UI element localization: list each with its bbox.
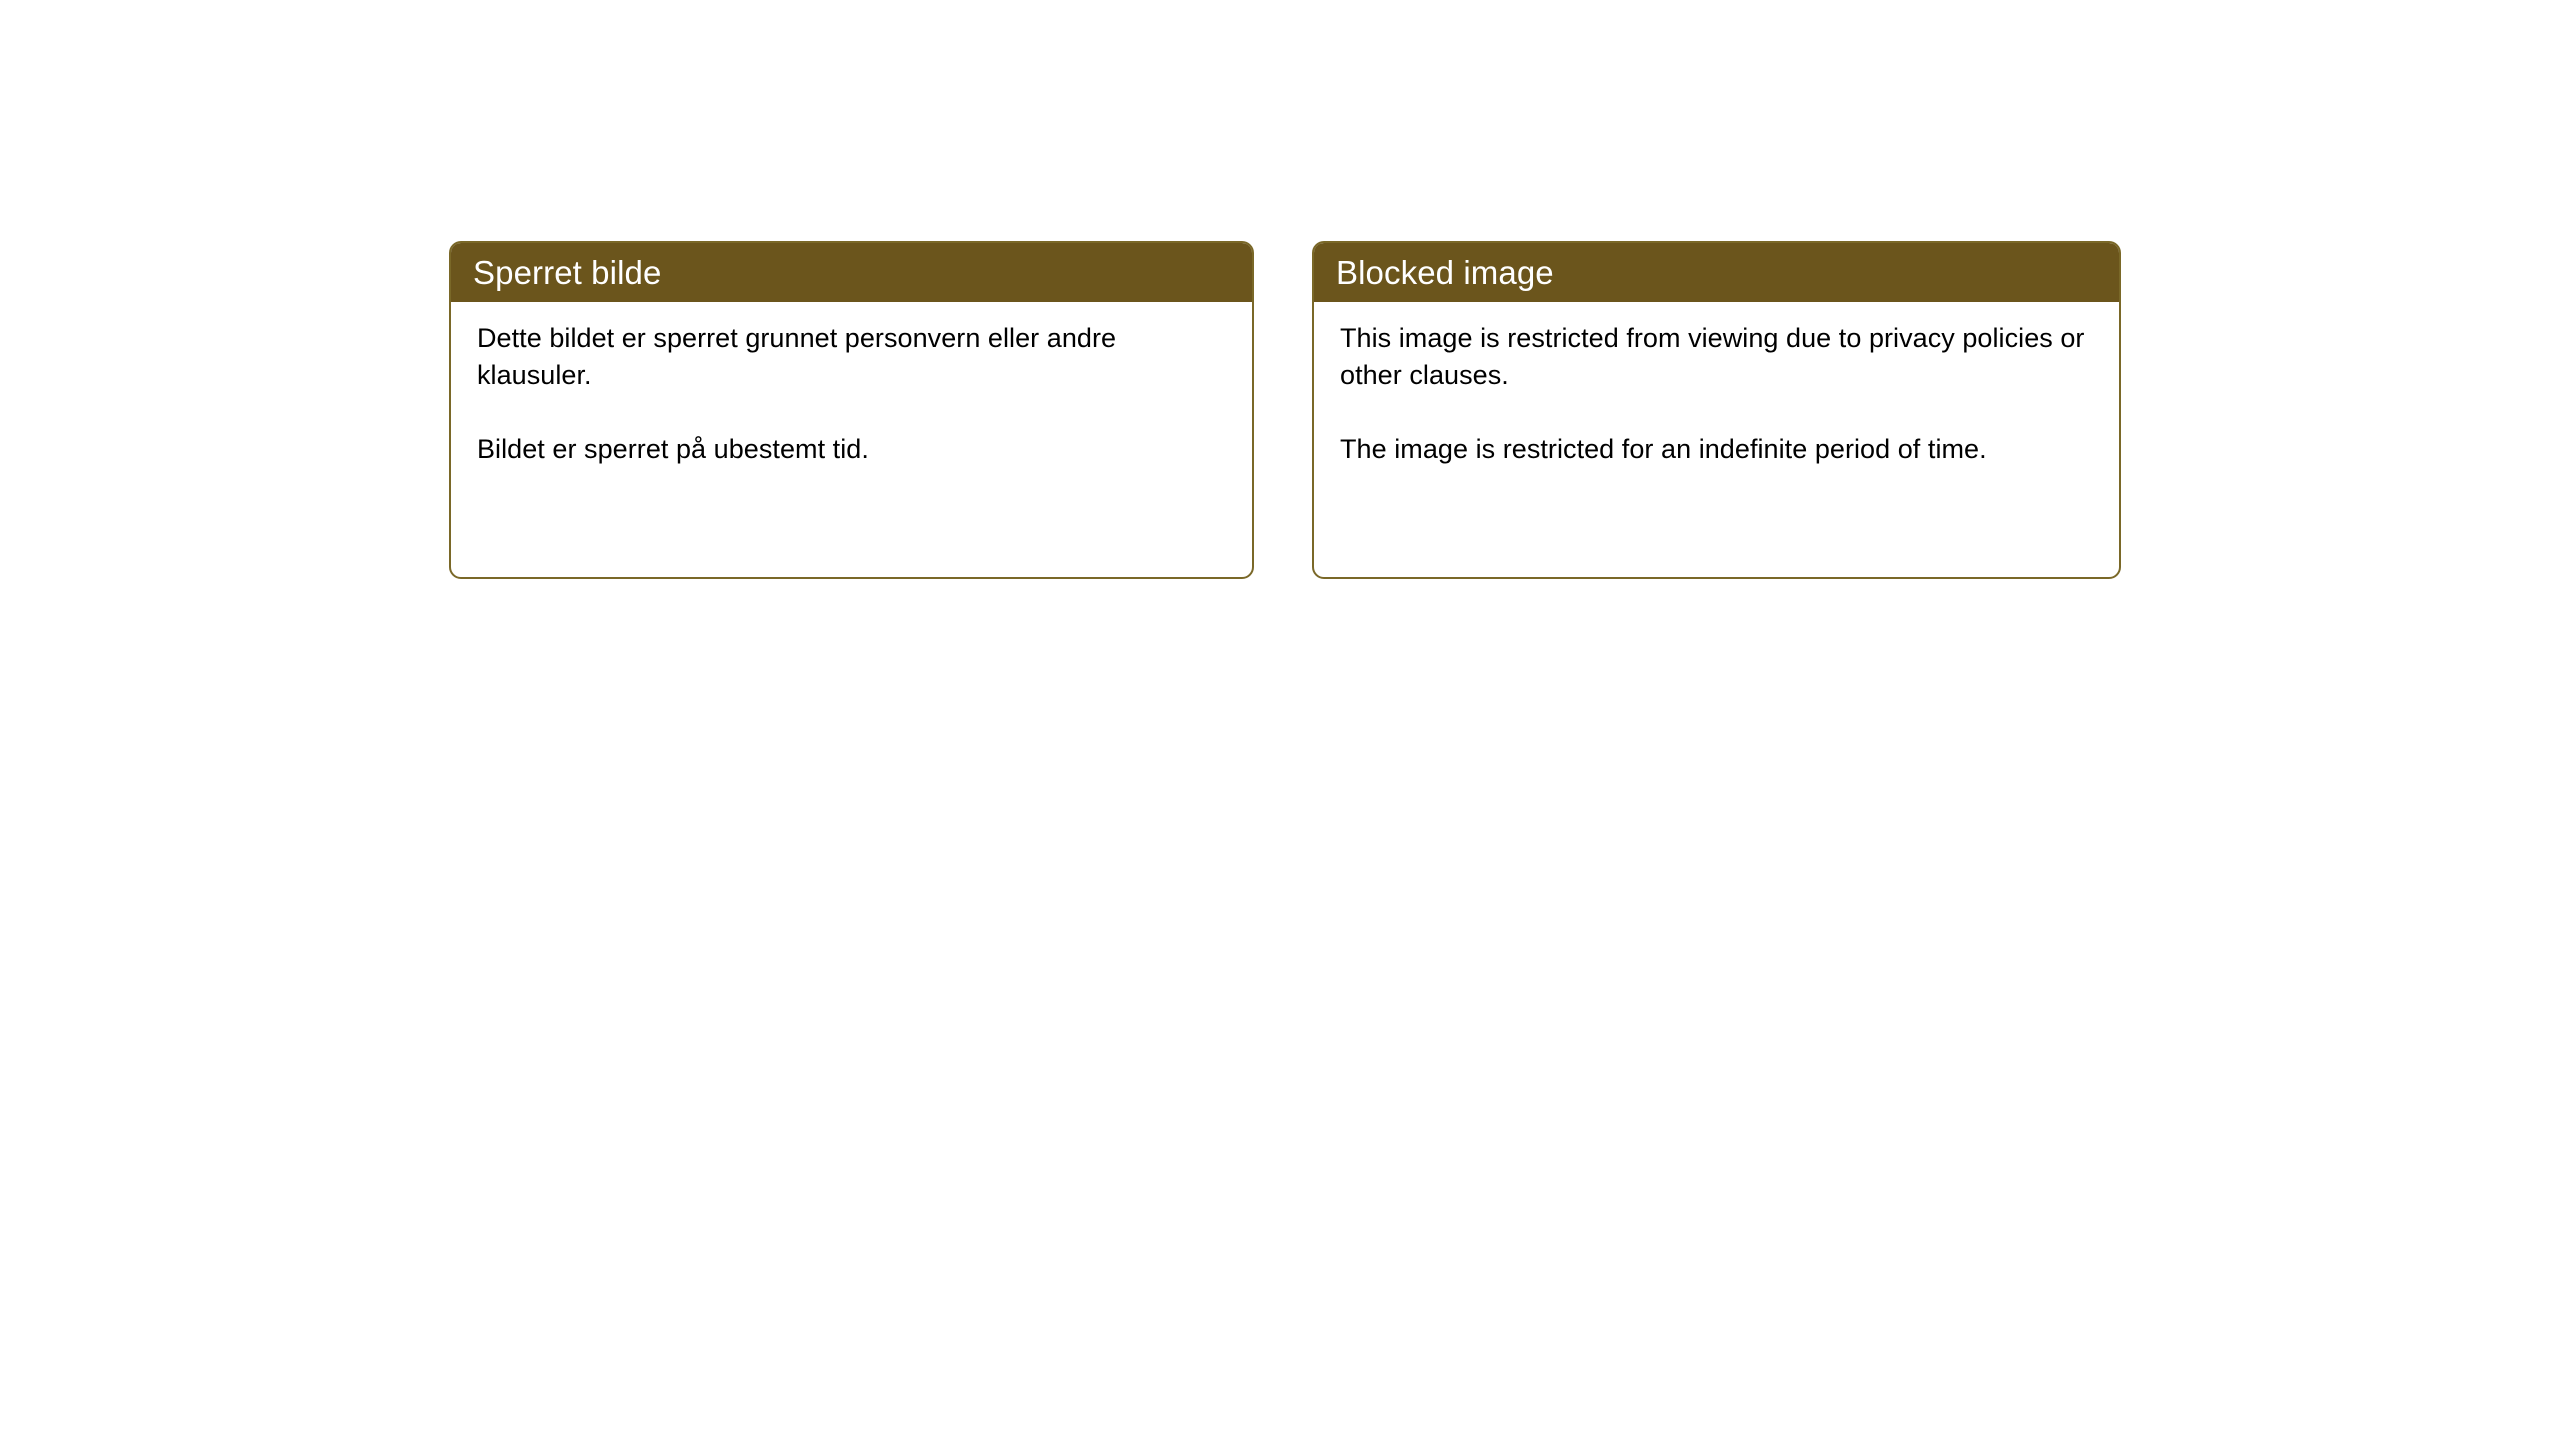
blocked-image-card-english: Blocked image This image is restricted f… [1312, 241, 2121, 579]
card-title-english: Blocked image [1336, 256, 1554, 289]
card-paragraph-duration-norwegian: Bildet er sperret på ubestemt tid. [477, 431, 1230, 468]
page-canvas: Sperret bilde Dette bildet er sperret gr… [0, 0, 2560, 1440]
blocked-image-card-norwegian: Sperret bilde Dette bildet er sperret gr… [449, 241, 1254, 579]
card-body-norwegian: Dette bildet er sperret grunnet personve… [451, 302, 1252, 468]
card-title-norwegian: Sperret bilde [473, 256, 661, 289]
card-paragraph-reason-english: This image is restricted from viewing du… [1340, 320, 2097, 394]
card-header-norwegian: Sperret bilde [450, 242, 1253, 302]
card-header-english: Blocked image [1313, 242, 2120, 302]
card-paragraph-duration-english: The image is restricted for an indefinit… [1340, 431, 2097, 468]
card-paragraph-reason-norwegian: Dette bildet er sperret grunnet personve… [477, 320, 1230, 394]
card-body-english: This image is restricted from viewing du… [1314, 302, 2119, 468]
